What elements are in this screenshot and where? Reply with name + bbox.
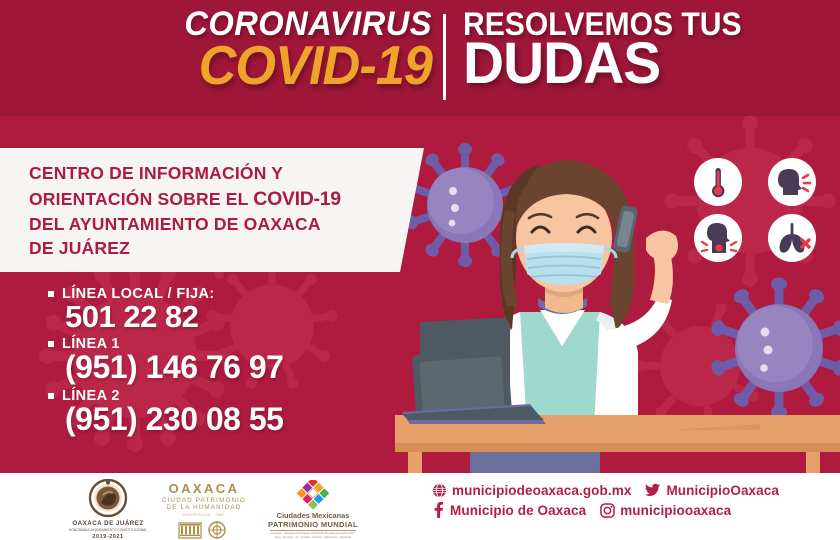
header-right-title: RESOLVEMOS TUS DUDAS [463,9,759,91]
thermometer-fever-icon [694,158,742,206]
patrimonio-line3: INSCRIPCIÓN · 1987 [152,513,256,517]
seal-subcaption: HONORABLE AYUNTAMIENTO CONSTITUCIONAL [52,528,164,532]
footer-logos: OAXACA DE JUÁREZ HONORABLE AYUNTAMIENTO … [52,477,372,537]
header-covid19-text: COVID-19 [187,39,432,92]
phone-row-linea2: LÍNEA 2 (951) 230 08 55 [48,388,408,437]
lungs-breathing-icon [768,214,816,262]
social-label-website: municipiodeoaxaca.gob.mx [452,483,631,498]
phone-number-linea2[interactable]: (951) 230 08 55 [65,402,408,437]
sore-throat-icon [694,214,742,262]
header-left-title: CORONAVIRUS COVID-19 [174,8,432,91]
poster-header: CORONAVIRUS COVID-19 RESOLVEMOS TUS DUDA… [0,0,840,116]
footer-social: municipiodeoaxaca.gob.mx MunicipioOaxaca… [432,483,832,522]
seal-years: 2019-2021 [52,534,164,540]
header-divider [443,14,446,100]
patrimonio-line2: DE LA HUMANIDAD [152,504,256,511]
phone-list: LÍNEA LOCAL / FIJA: 501 22 82 LÍNEA 1 (9… [48,286,408,440]
social-item-website[interactable]: municipiodeoaxaca.gob.mx [432,483,631,498]
mosaic-diamond-icon [297,480,330,510]
twitter-icon [645,483,661,498]
info-line-2-prefix: ORIENTACIÓN SOBRE EL [29,189,253,209]
seal-caption: OAXACA DE JUÁREZ [52,520,164,527]
social-item-facebook[interactable]: Municipio de Oaxaca [432,502,586,518]
phone-row-local: LÍNEA LOCAL / FIJA: 501 22 82 [48,286,408,333]
info-line-1: CENTRO DE INFORMACIÓN Y [29,163,283,183]
social-label-instagram: municipiooaxaca [620,503,731,518]
covid-info-poster: CORONAVIRUS COVID-19 RESOLVEMOS TUS DUDA… [0,0,840,540]
social-label-twitter: MunicipioOaxaca [666,483,779,498]
phone-number-linea1[interactable]: (951) 146 76 97 [65,350,408,385]
info-line-3: DEL AYUNTAMIENTO DE OAXACA [29,214,321,234]
bullet-square-icon [48,341,54,347]
head-cough-icon [768,158,816,206]
header-dudas-text: DUDAS [463,36,753,91]
bullet-square-icon [48,393,54,399]
ciudades-line1: Ciudades Mexicanas [248,511,378,520]
patrimonio-line1: CIUDAD PATRIMONIO [152,497,256,504]
phone-row-linea1: LÍNEA 1 (951) 146 76 97 [48,336,408,385]
facebook-icon [432,502,445,518]
social-label-facebook: Municipio de Oaxaca [450,503,586,518]
ciudades-fineprint: Consejo · Ciudades Mexicanas Patrimonio … [248,532,378,539]
info-panel: CENTRO DE INFORMACIÓN Y ORIENTACIÓN SOBR… [0,148,424,272]
social-line-2: Municipio de Oaxaca municipiooaxaca [432,502,832,518]
poster-footer: OAXACA DE JUÁREZ HONORABLE AYUNTAMIENTO … [0,473,840,540]
ciudades-mexicanas-logo: Ciudades Mexicanas PATRIMONIO MUNDIAL Co… [248,480,378,539]
ciudades-line2: PATRIMONIO MUNDIAL [248,520,378,529]
unesco-temple-icon [179,523,201,538]
info-line-2-covid: COVID-19 [253,188,341,210]
symptom-icon-grid [686,158,826,262]
oaxaca-patrimonio-logo: OAXACA CIUDAD PATRIMONIO DE LA HUMANIDAD… [152,481,256,540]
social-item-instagram[interactable]: municipiooaxaca [600,503,731,518]
instagram-icon [600,503,615,518]
heritage-circle-icon [209,522,225,538]
social-item-twitter[interactable]: MunicipioOaxaca [645,483,779,498]
bullet-square-icon [48,291,54,297]
patrimonio-title: OAXACA [152,481,256,496]
globe-icon [432,483,447,498]
oaxaca-de-juarez-seal-logo: OAXACA DE JUÁREZ HONORABLE AYUNTAMIENTO … [52,479,164,540]
info-panel-text: CENTRO DE INFORMACIÓN Y ORIENTACIÓN SOBR… [29,162,411,261]
phone-number-local[interactable]: 501 22 82 [65,300,408,333]
social-line-1: municipiodeoaxaca.gob.mx MunicipioOaxaca [432,483,832,498]
info-line-4: DE JUÁREZ [29,238,130,258]
